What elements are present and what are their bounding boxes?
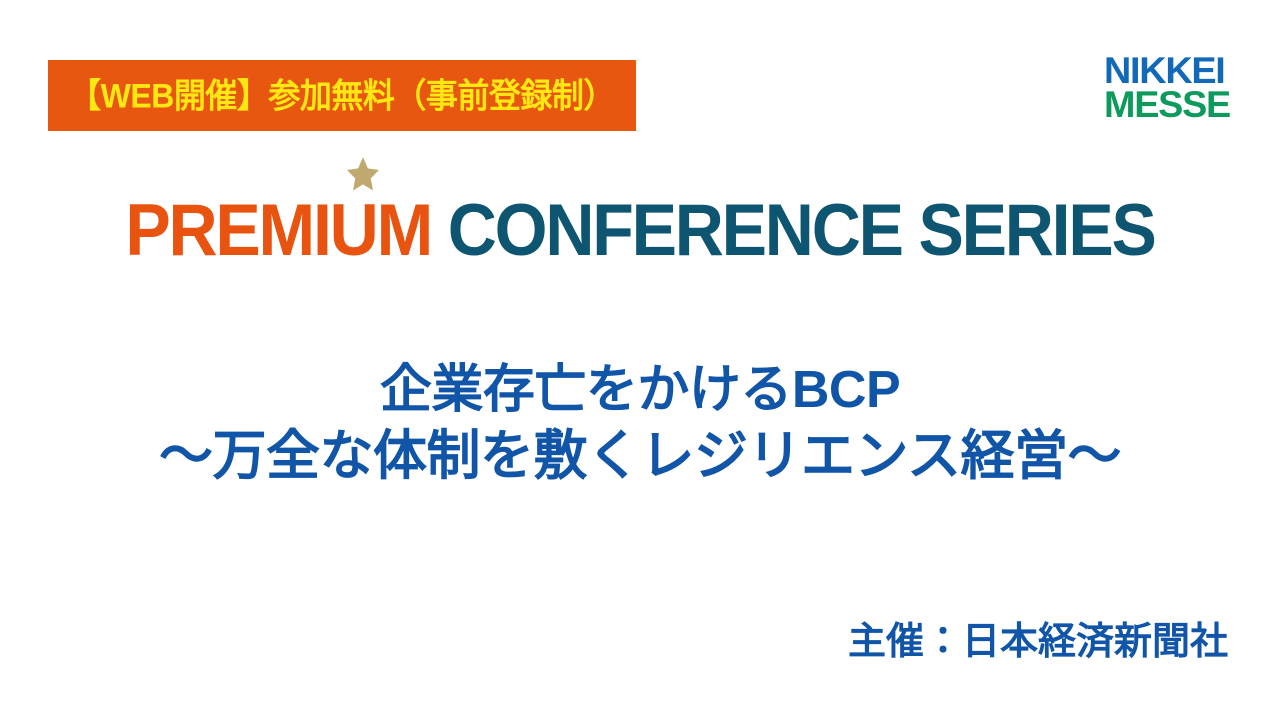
conference-poster: 【WEB開催】参加無料（事前登録制） NIKKEI MESSE PREMIUM … — [0, 0, 1280, 720]
web-event-badge-label: 【WEB開催】参加無料（事前登録制） — [69, 79, 615, 113]
series-title-premium-label: PREMIUM — [125, 189, 431, 271]
series-title: PREMIUM CONFERENCE SERIES — [0, 196, 1280, 264]
logo-nikkei-text: NIKKEI — [1104, 54, 1230, 88]
nikkei-messe-logo: NIKKEI MESSE — [1104, 54, 1228, 122]
web-event-badge: 【WEB開催】参加無料（事前登録制） — [48, 60, 636, 131]
headline: 企業存亡をかけるBCP 〜万全な体制を敷くレジリエンス経営〜 — [0, 358, 1280, 491]
series-title-premium: PREMIUM — [125, 193, 431, 266]
headline-line-2: 〜万全な体制を敷くレジリエンス経営〜 — [0, 423, 1280, 491]
headline-line-1: 企業存亡をかけるBCP — [0, 358, 1280, 423]
logo-messe-text: MESSE — [1104, 88, 1230, 122]
series-title-space — [431, 193, 448, 266]
series-title-conference-label: CONFERENCE SERIES — [448, 193, 1155, 266]
organizer-label: 主催：日本経済新聞社 — [848, 620, 1228, 666]
